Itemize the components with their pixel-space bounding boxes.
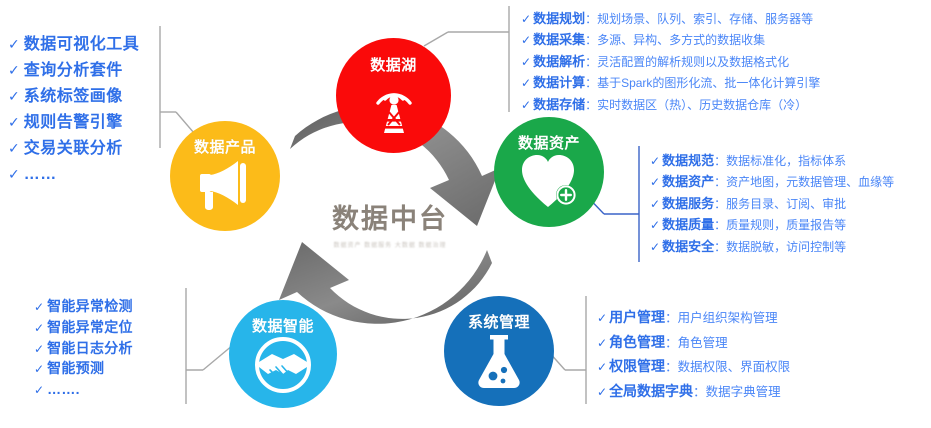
list-item-term: 数据采集 [533, 29, 585, 50]
list-item: ✓ 数据采集 ：多源、异构、多方式的数据收集 [521, 29, 820, 50]
check-icon: ✓ [597, 382, 607, 403]
node-sysmgmt-label: 系统管理 [468, 311, 530, 332]
list-item-desc: ：基于Spark的图形化流、批一体化计算引擎 [585, 74, 820, 93]
check-icon: ✓ [8, 111, 20, 134]
list-item: ✓ 智能日志分析 [34, 338, 133, 359]
list-item: ✓ 查询分析套件 [8, 58, 139, 84]
check-icon: ✓ [8, 59, 20, 82]
list-item-term: 数据规范 [662, 150, 714, 171]
node-dataasset[interactable]: 数据资产 [494, 117, 604, 227]
list-item-term: 规则告警引擎 [24, 110, 123, 136]
check-icon: ✓ [8, 137, 20, 160]
check-icon: ✓ [650, 152, 660, 171]
list-item-desc: ：服务目录、订阅、审批 [714, 195, 846, 214]
list-item: ✓ 数据可视化工具 [8, 32, 139, 58]
list-item-term: 数据可视化工具 [24, 32, 140, 58]
node-dataintel-label: 数据智能 [252, 315, 314, 336]
list-item: ✓ 智能异常定位 [34, 317, 133, 338]
list-item: ✓ 数据安全 ：数据脱敏，访问控制等 [650, 236, 894, 257]
broadcast-tower-icon [364, 75, 424, 137]
list-item: ✓ 交易关联分析 [8, 136, 139, 162]
list-dataintel: ✓ 智能异常检测 ✓ 智能异常定位 ✓ 智能日志分析 ✓ 智能预测 ✓ ……. [34, 296, 133, 400]
list-dataproduct: ✓ 数据可视化工具 ✓ 查询分析套件 ✓ 系统标签画像 ✓ 规则告警引擎 ✓ 交… [8, 32, 139, 187]
check-icon: ✓ [650, 216, 660, 235]
list-item-term: 智能预测 [47, 358, 104, 379]
heart-plus-icon [518, 153, 580, 211]
list-item-term: 数据计算 [533, 72, 585, 93]
check-icon: ✓ [521, 31, 531, 50]
check-icon: ✓ [521, 96, 531, 115]
list-item: ✓ 数据质量 ：质量规则，质量报告等 [650, 214, 894, 235]
list-item-desc: ：多源、异构、多方式的数据收集 [585, 31, 765, 50]
list-item: ✓ 权限管理 ：数据权限、界面权限 [597, 354, 790, 379]
list-sysmgmt: ✓ 用户管理 ：用户组织架构管理 ✓ 角色管理 ：角色管理 ✓ 权限管理 ：数据… [597, 305, 790, 403]
flask-icon [471, 332, 527, 390]
check-icon: ✓ [650, 195, 660, 214]
list-item-desc: ：数据字典管理 [693, 382, 781, 404]
list-item: ✓ 数据服务 ：服务目录、订阅、审批 [650, 193, 894, 214]
list-item: ✓ 数据资产 ：资产地图，元数据管理、血缘等 [650, 171, 894, 192]
node-dataintel[interactable]: 数据智能 [229, 300, 337, 408]
list-item-desc: ：质量规则，质量报告等 [714, 216, 846, 235]
list-dataasset: ✓ 数据规范 ：数据标准化，指标体系 ✓ 数据资产 ：资产地图，元数据管理、血缘… [650, 150, 894, 257]
list-item: ✓ 规则告警引擎 [8, 110, 139, 136]
list-item: ✓ 全局数据字典 ：数据字典管理 [597, 379, 790, 404]
check-icon: ✓ [34, 320, 44, 338]
check-icon: ✓ [521, 53, 531, 72]
diagram-canvas: 数据中台 数据资产 数据服务 大数据 数据治理 数据湖 数据资产 [0, 0, 931, 428]
list-item: ✓ 数据规划 ：规划场景、队列、索引、存储、服务器等 [521, 8, 820, 29]
check-icon: ✓ [521, 74, 531, 93]
list-item: ✓ 数据解析 ：灵活配置的解析规则以及数据格式化 [521, 51, 820, 72]
check-icon: ✓ [597, 333, 607, 354]
node-dataproduct[interactable]: 数据产品 [170, 121, 280, 231]
list-item: ✓ 数据规范 ：数据标准化，指标体系 [650, 150, 894, 171]
list-item-term: 数据存储 [533, 94, 585, 115]
list-item-desc: ：数据脱敏，访问控制等 [714, 238, 846, 257]
list-item-term: 角色管理 [609, 330, 665, 354]
check-icon: ✓ [34, 299, 44, 317]
list-datalake: ✓ 数据规划 ：规划场景、队列、索引、存储、服务器等 ✓ 数据采集 ：多源、异构… [521, 8, 820, 115]
center-label: 数据中台 数据资产 数据服务 大数据 数据治理 [300, 205, 480, 249]
check-icon: ✓ [34, 382, 44, 400]
node-datalake[interactable]: 数据湖 [336, 38, 451, 153]
check-icon: ✓ [597, 308, 607, 329]
list-item: ✓ 系统标签画像 [8, 84, 139, 110]
list-item: ✓ 角色管理 ：角色管理 [597, 330, 790, 355]
list-item-term: 数据质量 [662, 214, 714, 235]
list-item-term: 智能异常定位 [47, 317, 133, 338]
check-icon: ✓ [8, 33, 20, 56]
list-item-term: 权限管理 [609, 354, 665, 378]
check-icon: ✓ [34, 361, 44, 379]
list-item-term: …… [24, 162, 57, 188]
list-item-desc: ：灵活配置的解析规则以及数据格式化 [585, 53, 789, 72]
list-item-term: 数据规划 [533, 8, 585, 29]
connector-dataintel [186, 288, 233, 404]
list-item-term: 数据资产 [662, 171, 714, 192]
page-title: 数据中台 [300, 205, 480, 235]
node-dataproduct-label: 数据产品 [194, 136, 256, 157]
node-datalake-label: 数据湖 [370, 54, 417, 75]
check-icon: ✓ [597, 357, 607, 378]
node-sysmgmt[interactable]: 系统管理 [444, 296, 554, 406]
list-item: ✓ 智能异常检测 [34, 296, 133, 317]
list-item-term: ……. [47, 379, 80, 400]
node-dataasset-label: 数据资产 [518, 132, 580, 153]
check-icon: ✓ [521, 10, 531, 29]
list-item: ✓ ……. [34, 379, 133, 400]
list-item-desc: ：用户组织架构管理 [665, 308, 778, 330]
list-item-desc: ：资产地图，元数据管理、血缘等 [714, 173, 894, 192]
list-item-desc: ：规划场景、队列、索引、存储、服务器等 [585, 10, 813, 29]
check-icon: ✓ [34, 341, 44, 359]
check-icon: ✓ [650, 238, 660, 257]
list-item-term: 用户管理 [609, 305, 665, 329]
check-icon: ✓ [8, 163, 20, 186]
check-icon: ✓ [8, 85, 20, 108]
handshake-icon [252, 336, 314, 394]
list-item-desc: ：实时数据区（热）、历史数据仓库（冷） [585, 96, 807, 115]
megaphone-icon [194, 157, 256, 211]
center-subtitle: 数据资产 数据服务 大数据 数据治理 [300, 240, 480, 249]
check-icon: ✓ [650, 173, 660, 192]
list-item-term: 系统标签画像 [24, 84, 123, 110]
list-item: ✓ 数据计算 ：基于Spark的图形化流、批一体化计算引擎 [521, 72, 820, 93]
list-item-term: 智能异常检测 [47, 296, 133, 317]
list-item-term: 数据解析 [533, 51, 585, 72]
list-item: ✓ 用户管理 ：用户组织架构管理 [597, 305, 790, 330]
list-item-term: 数据安全 [662, 236, 714, 257]
list-item: ✓ 智能预测 [34, 358, 133, 379]
list-item-desc: ：数据权限、界面权限 [665, 357, 790, 379]
list-item-term: 查询分析套件 [24, 58, 123, 84]
list-item-desc: ：数据标准化，指标体系 [714, 152, 846, 171]
list-item-term: 交易关联分析 [24, 136, 123, 162]
list-item: ✓ …… [8, 162, 139, 188]
list-item-term: 数据服务 [662, 193, 714, 214]
list-item-term: 全局数据字典 [609, 379, 693, 403]
list-item: ✓ 数据存储 ：实时数据区（热）、历史数据仓库（冷） [521, 94, 820, 115]
list-item-term: 智能日志分析 [47, 338, 133, 359]
list-item-desc: ：角色管理 [665, 333, 728, 355]
